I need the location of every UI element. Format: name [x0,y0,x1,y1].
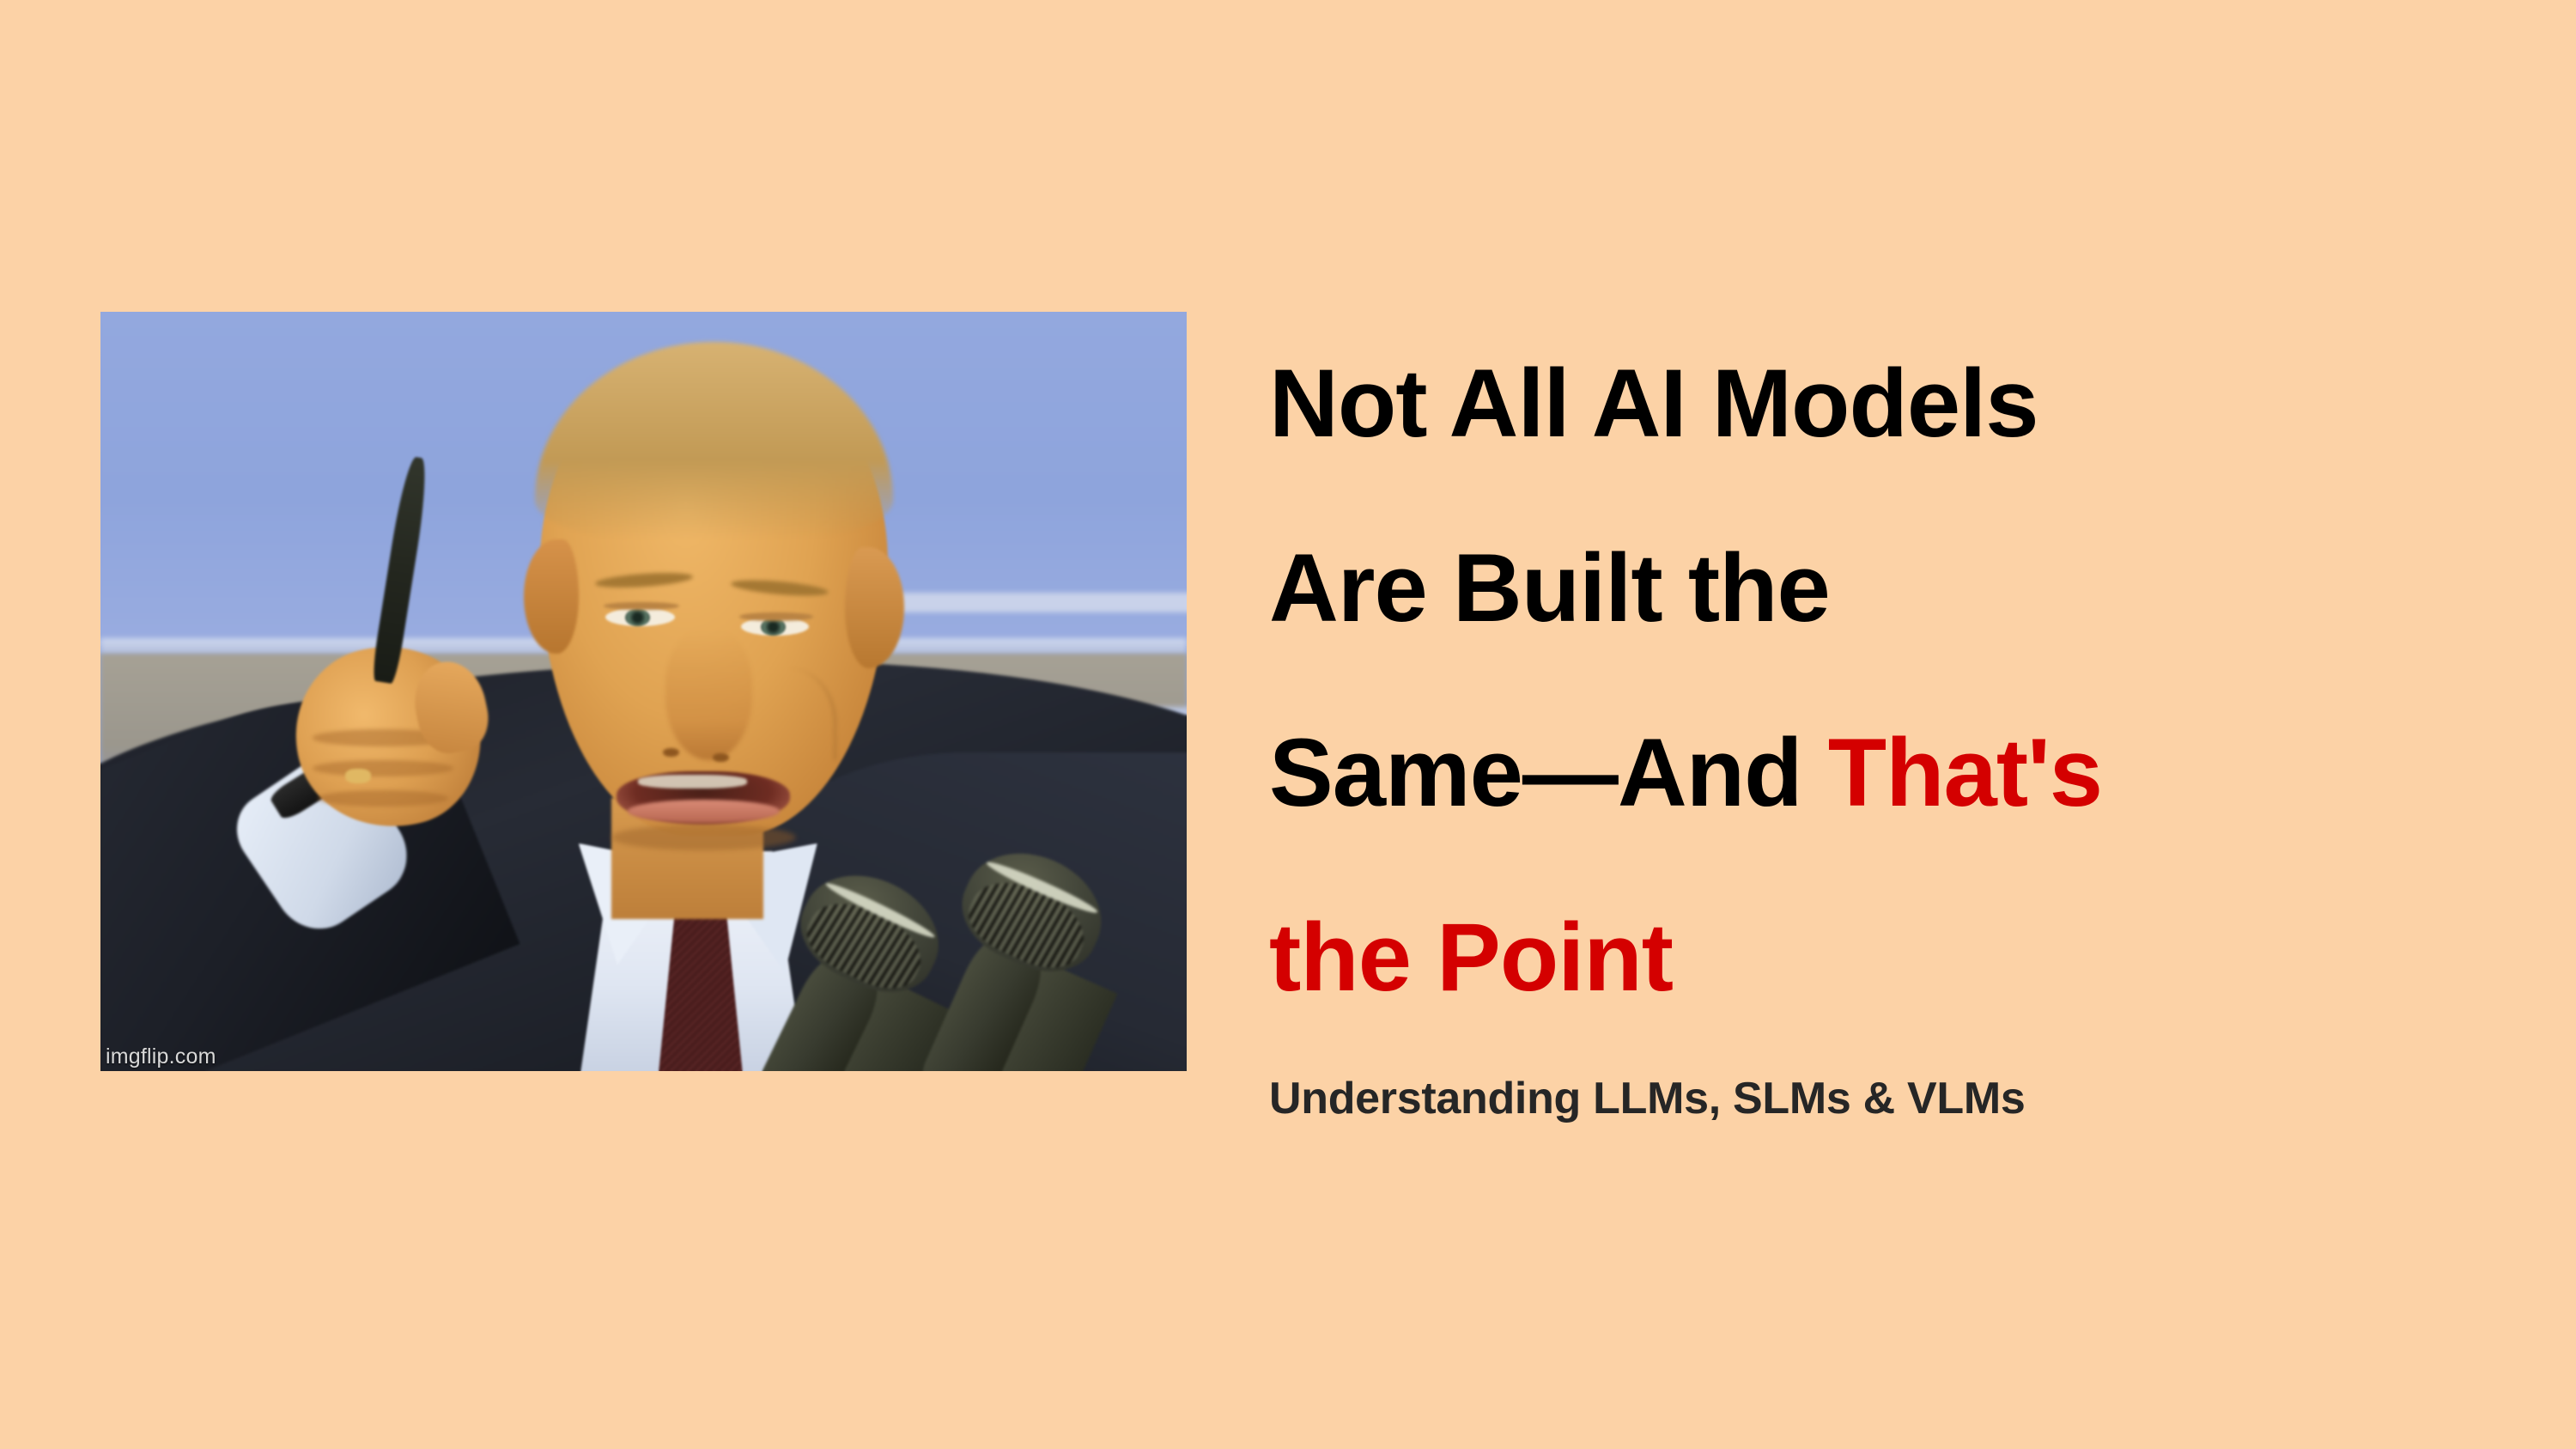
headline-line-4-accent: the Point [1269,904,1673,1011]
text-column: Not All AI Models Are Built the Same—And… [1269,311,2488,1125]
headline-line-3: Same—And That's [1269,680,2488,865]
page-title: Not All AI Models Are Built the Same—And… [1269,311,2488,1050]
subject-teeth [638,775,747,788]
subject-nose [665,630,752,759]
headline-line-3-plain: Same—And [1269,719,1828,826]
photo-stage [100,312,1187,1071]
headline-line-2-text: Are Built the [1269,534,1830,642]
headline-line-4: the Point [1269,865,2488,1050]
subject-lower-lip [628,800,780,823]
headline-line-1: Not All AI Models [1269,311,2488,496]
imgflip-watermark: imgflip.com [106,1044,216,1069]
headline-line-2: Are Built the [1269,496,2488,680]
subject-finger-ring [345,769,371,783]
meme-photo: imgflip.com [100,312,1187,1071]
subject-eyelid-right [739,612,813,621]
headline-line-3-accent: That's [1828,719,2102,826]
subject-knuckle-2 [313,760,453,776]
slide-canvas: imgflip.com Not All AI Models Are Built … [0,0,2576,1449]
headline-line-1-text: Not All AI Models [1269,350,2038,457]
subject-iris-left [625,609,650,626]
subject-ear-left [524,539,578,654]
page-subtitle: Understanding LLMs, SLMs & VLMs [1269,1050,2488,1125]
subject-chin-shadow [611,825,796,850]
